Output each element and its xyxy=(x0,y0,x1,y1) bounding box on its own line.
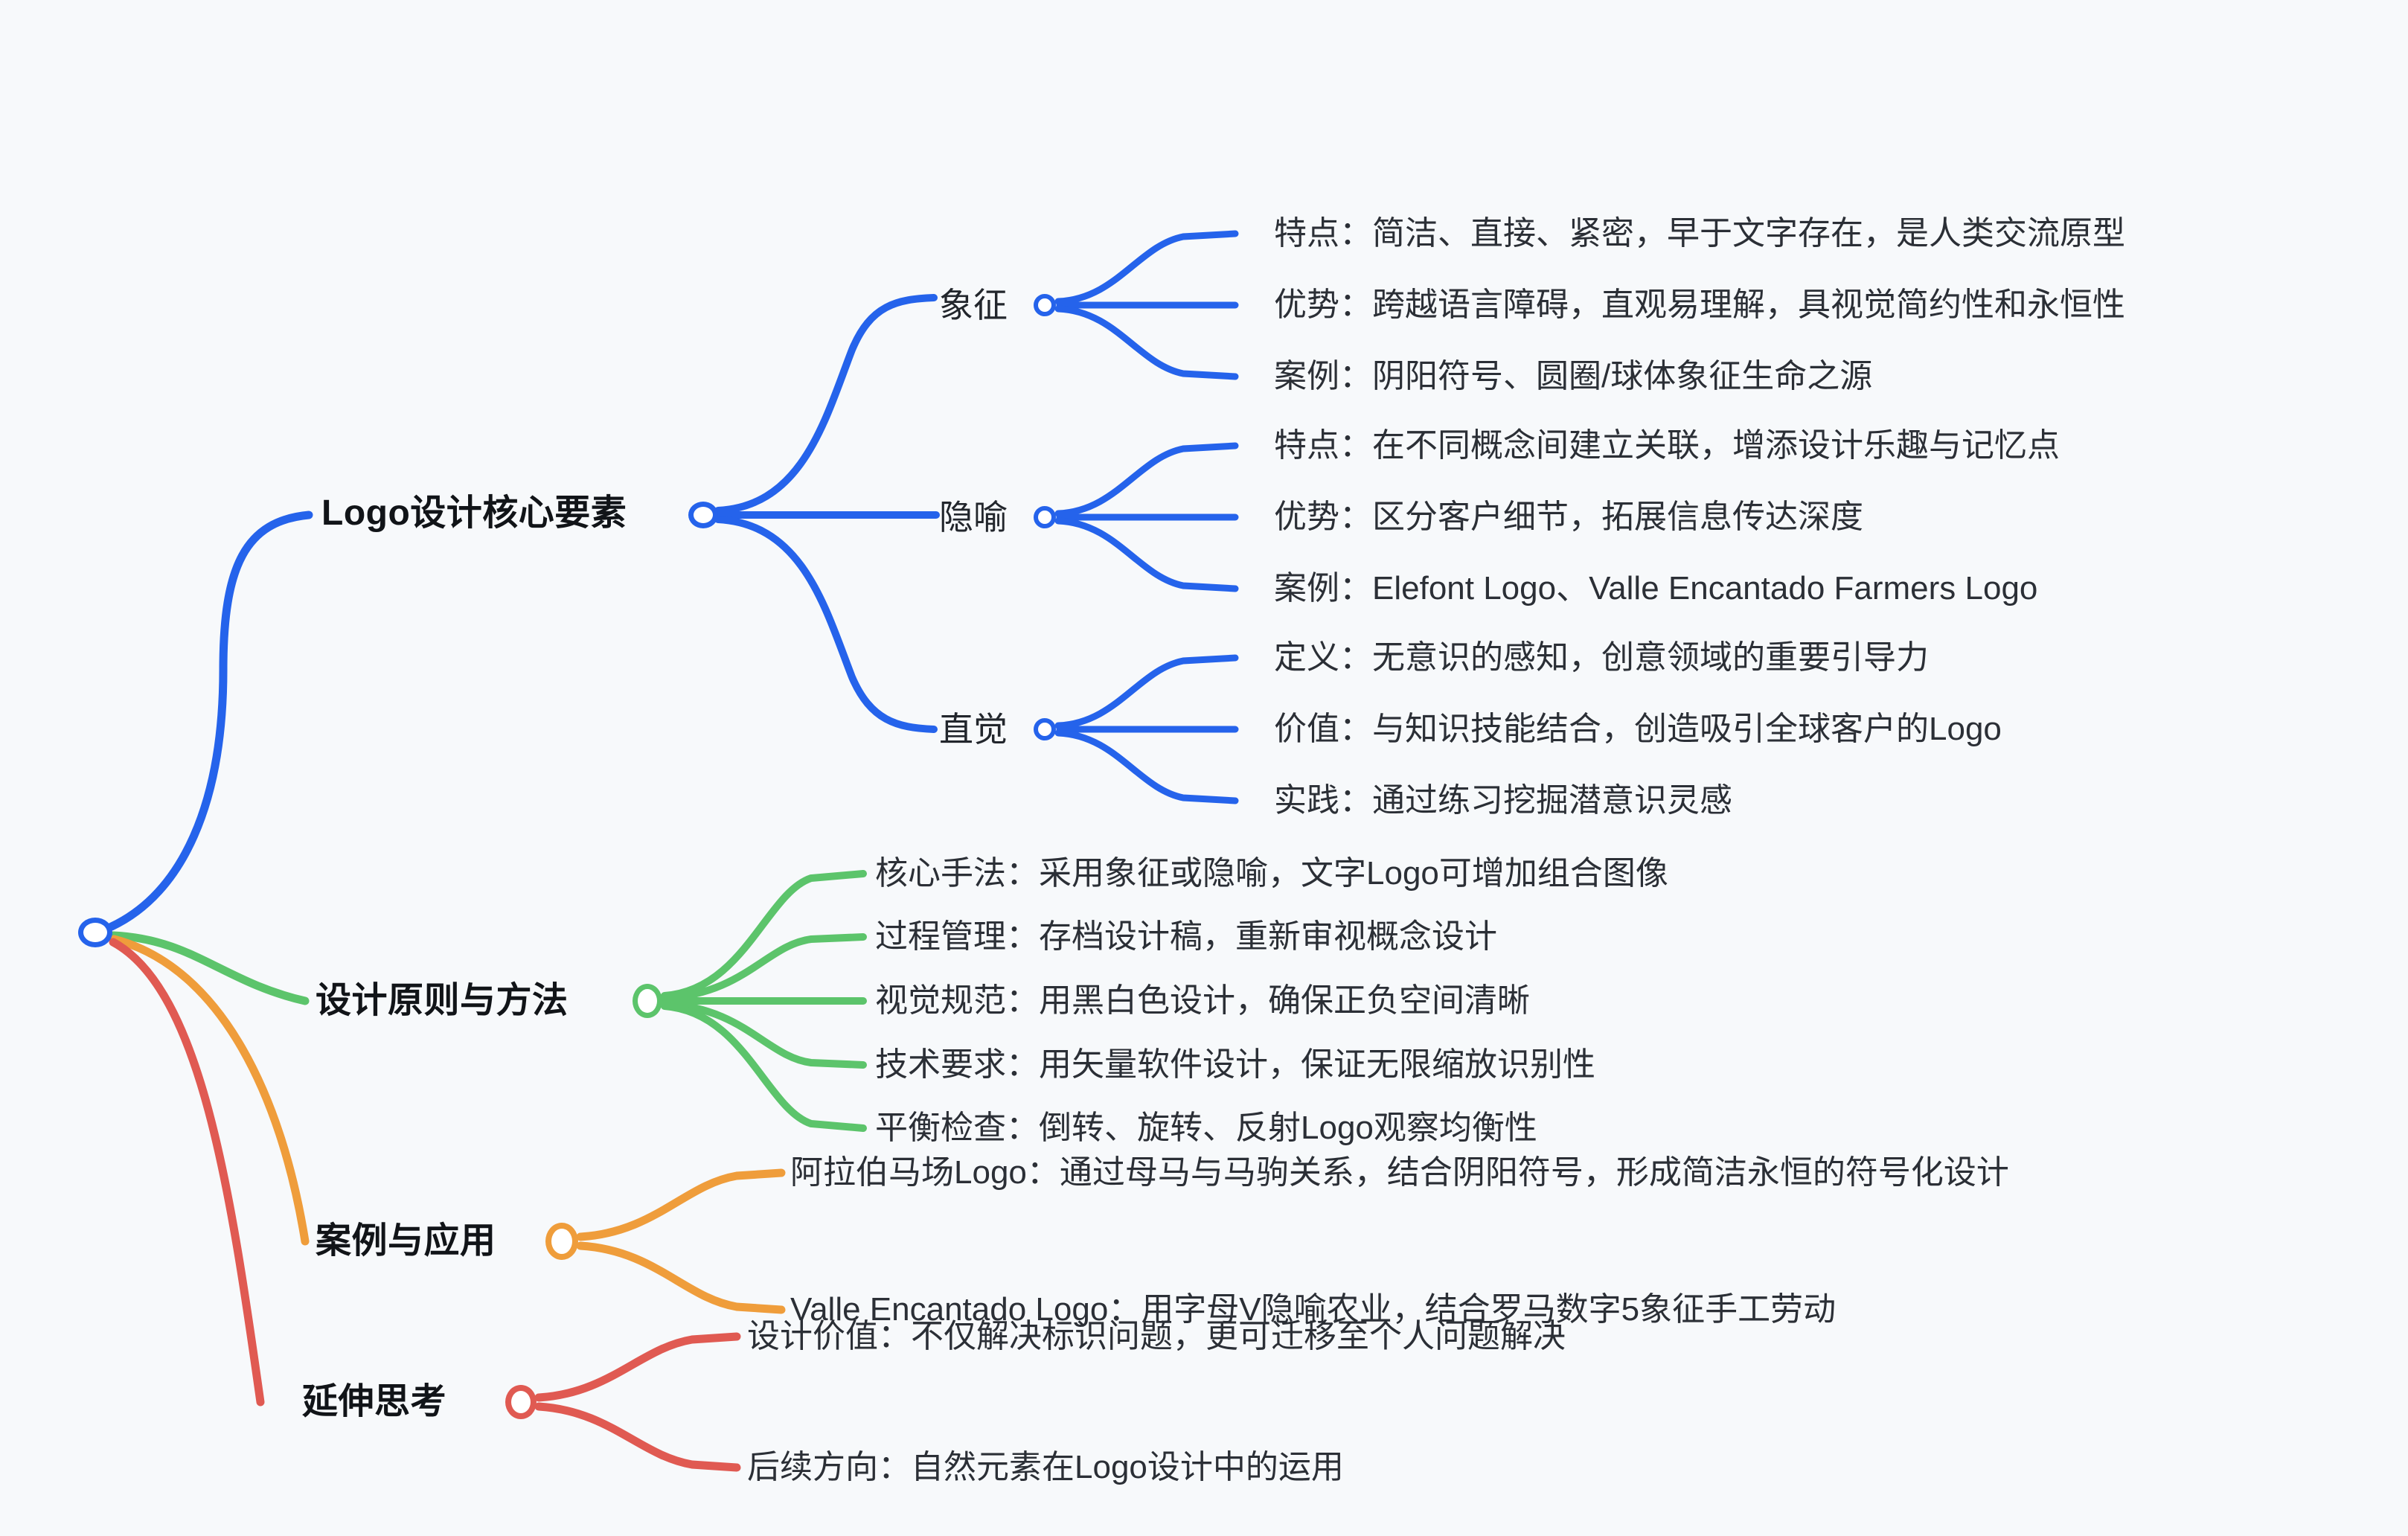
root-node-dot[interactable] xyxy=(78,918,112,947)
leaf-intuition-practice[interactable]: 实践：通过练习挖掘潜意识灵感 xyxy=(1274,784,1732,817)
mindmap-canvas: Logo设计核心要素 象征 特点：简洁、直接、紧密，早于文字存在，是人类交流原型… xyxy=(0,0,2408,1536)
leaf-symbol-advantage[interactable]: 优势：跨越语言障碍，直观易理解，具视觉简约性和永恒性 xyxy=(1274,289,2125,321)
branch-label-cases-applications[interactable]: 案例与应用 xyxy=(316,1223,496,1259)
leaf-symbol-feature[interactable]: 特点：简洁、直接、紧密，早于文字存在，是人类交流原型 xyxy=(1274,217,2125,250)
edge-root-to-principles xyxy=(113,935,305,1001)
edge-core-to-intuition xyxy=(718,519,934,729)
node-label-intuition[interactable]: 直觉 xyxy=(939,712,1008,746)
leaf-principles-core-method[interactable]: 核心手法：采用象征或隐喻，文字Logo可增加组合图像 xyxy=(875,857,1668,890)
leaf-principles-process[interactable]: 过程管理：存档设计稿，重新审视概念设计 xyxy=(875,921,1497,953)
leaf-extended-design-value[interactable]: 设计价值：不仅解决标识问题，更可迁移至个人问题解决 xyxy=(747,1320,1566,1353)
edge-extended-leaf-2 xyxy=(539,1407,737,1468)
edge-principles-leaf-4 xyxy=(665,1004,863,1065)
edge-metaphor-leaf-3 xyxy=(1058,521,1235,589)
branch-node-core-elements[interactable] xyxy=(688,502,718,528)
leaf-extended-next-direction[interactable]: 后续方向：自然元素在Logo设计中的运用 xyxy=(747,1451,1344,1484)
edge-principles-leaf-2 xyxy=(665,937,863,998)
leaf-metaphor-case[interactable]: 案例：Elefont Logo、Valle Encantado Farmers … xyxy=(1274,572,2037,605)
leaf-principles-balance[interactable]: 平衡检查：倒转、旋转、反射Logo观察均衡性 xyxy=(875,1112,1537,1145)
edge-principles-leaf-5 xyxy=(665,1006,863,1128)
edge-symbol-leaf-1 xyxy=(1058,234,1235,301)
edge-cases-leaf-2 xyxy=(580,1246,781,1310)
node-dot-metaphor[interactable] xyxy=(1034,506,1056,528)
leaf-case-arabian-horse[interactable]: 阿拉伯马场Logo：通过母马与马驹关系，结合阴阳符号，形成简洁永恒的符号化设计 xyxy=(790,1156,2009,1189)
branch-label-core-elements[interactable]: Logo设计核心要素 xyxy=(321,496,627,531)
leaf-metaphor-advantage[interactable]: 优势：区分客户细节，拓展信息传达深度 xyxy=(1274,501,1863,534)
node-label-metaphor[interactable]: 隐喻 xyxy=(939,500,1008,534)
leaf-principles-visual[interactable]: 视觉规范：用黑白色设计，确保正负空间清晰 xyxy=(875,985,1530,1017)
branch-node-cases-applications[interactable] xyxy=(545,1223,578,1260)
branch-label-extended-thinking[interactable]: 延伸思考 xyxy=(302,1384,446,1420)
leaf-metaphor-feature[interactable]: 特点：在不同概念间建立关联，增添设计乐趣与记忆点 xyxy=(1274,429,2060,462)
edge-root-to-extended xyxy=(113,942,260,1402)
branch-node-extended-thinking[interactable] xyxy=(505,1385,537,1419)
edge-symbol-leaf-3 xyxy=(1058,309,1235,377)
edge-cases-leaf-1 xyxy=(580,1173,781,1237)
node-dot-symbol[interactable] xyxy=(1034,294,1056,316)
edge-root-to-cases xyxy=(114,939,305,1241)
edge-intuition-leaf-3 xyxy=(1058,733,1235,801)
leaf-principles-technical[interactable]: 技术要求：用矢量软件设计，保证无限缩放识别性 xyxy=(875,1049,1595,1081)
edge-core-to-symbol xyxy=(718,298,934,511)
leaf-intuition-definition[interactable]: 定义：无意识的感知，创意领域的重要引导力 xyxy=(1274,641,1929,674)
leaf-symbol-case[interactable]: 案例：阴阳符号、圆圈/球体象征生命之源 xyxy=(1274,360,1872,393)
edge-metaphor-leaf-1 xyxy=(1058,446,1235,513)
edge-root-to-core xyxy=(112,515,309,927)
branch-node-principles-methods[interactable] xyxy=(633,984,662,1018)
leaf-intuition-value[interactable]: 价值：与知识技能结合，创造吸引全球客户的Logo xyxy=(1274,713,2002,746)
branch-label-principles-methods[interactable]: 设计原则与方法 xyxy=(316,983,569,1019)
node-dot-intuition[interactable] xyxy=(1034,718,1056,740)
edge-intuition-leaf-1 xyxy=(1058,658,1235,726)
edge-principles-leaf-1 xyxy=(665,874,863,996)
edge-extended-leaf-1 xyxy=(539,1337,737,1398)
node-label-symbol[interactable]: 象征 xyxy=(939,288,1008,322)
